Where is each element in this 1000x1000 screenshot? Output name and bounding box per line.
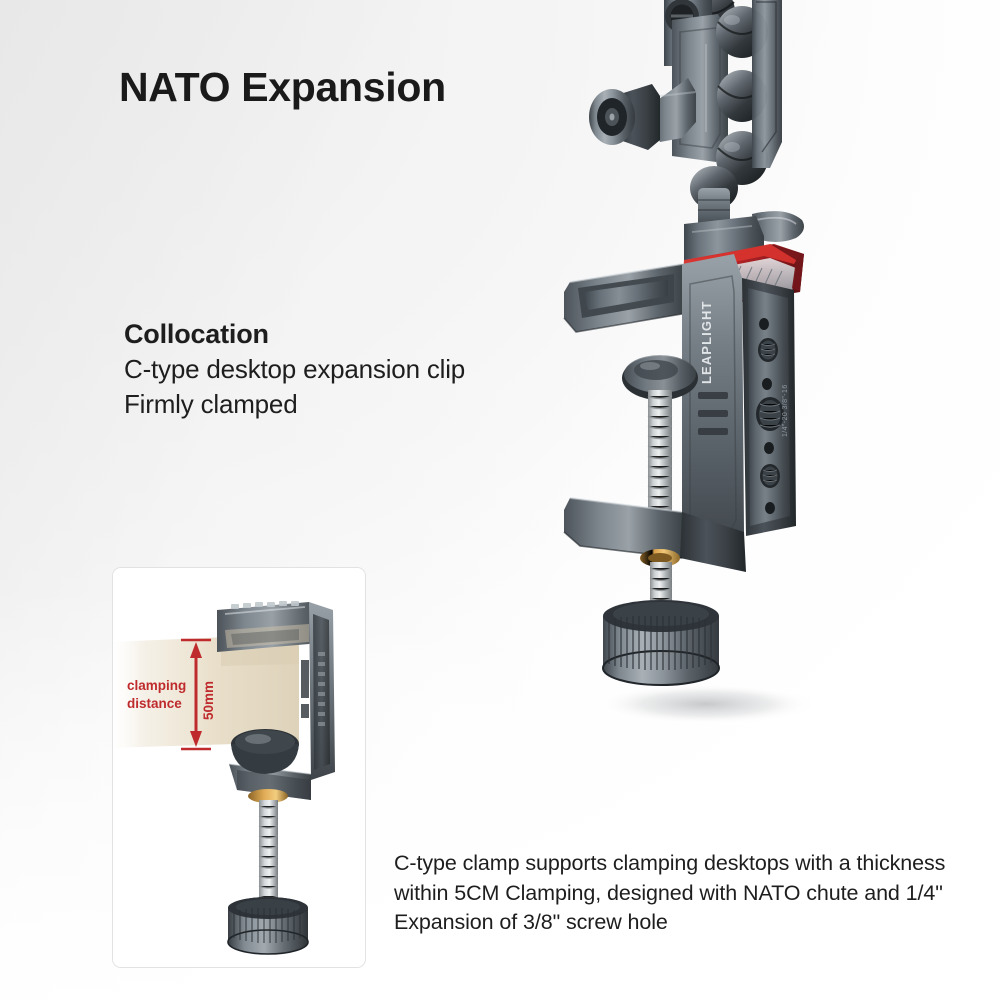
- product-photo-main: LEAPLIGHT: [556, 0, 886, 722]
- clamping-distance-label-line1: clamping: [127, 678, 186, 693]
- description-paragraph: C-type clamp supports clamping desktops …: [394, 849, 954, 938]
- page-title: NATO Expansion: [119, 64, 446, 111]
- side-engraving-text: 1/4"-20 3/8"-16: [782, 384, 789, 437]
- product-marketing-image: NATO Expansion Collocation C-type deskto…: [0, 0, 1000, 1000]
- clamping-distance-inset-card: clamping distance 50mm: [112, 567, 366, 968]
- clamp-vertical-spine: LEAPLIGHT: [682, 254, 744, 558]
- clamp-right-face: 1/4"-20 3/8"-16: [742, 278, 796, 536]
- clamp-upper-jaw: [564, 264, 682, 332]
- collocation-line-3: Firmly clamped: [124, 387, 465, 422]
- brand-engraving-text: LEAPLIGHT: [699, 300, 714, 384]
- collocation-line-2: C-type desktop expansion clip: [124, 352, 465, 387]
- base-thumb-knob: [603, 600, 719, 685]
- clamping-distance-label-line2: distance: [127, 696, 182, 711]
- collocation-heading: Collocation: [124, 316, 465, 352]
- measurement-label: 50mm: [201, 681, 216, 720]
- collocation-text-block: Collocation C-type desktop expansion cli…: [124, 316, 465, 422]
- inset-thumb-knob: [228, 897, 308, 954]
